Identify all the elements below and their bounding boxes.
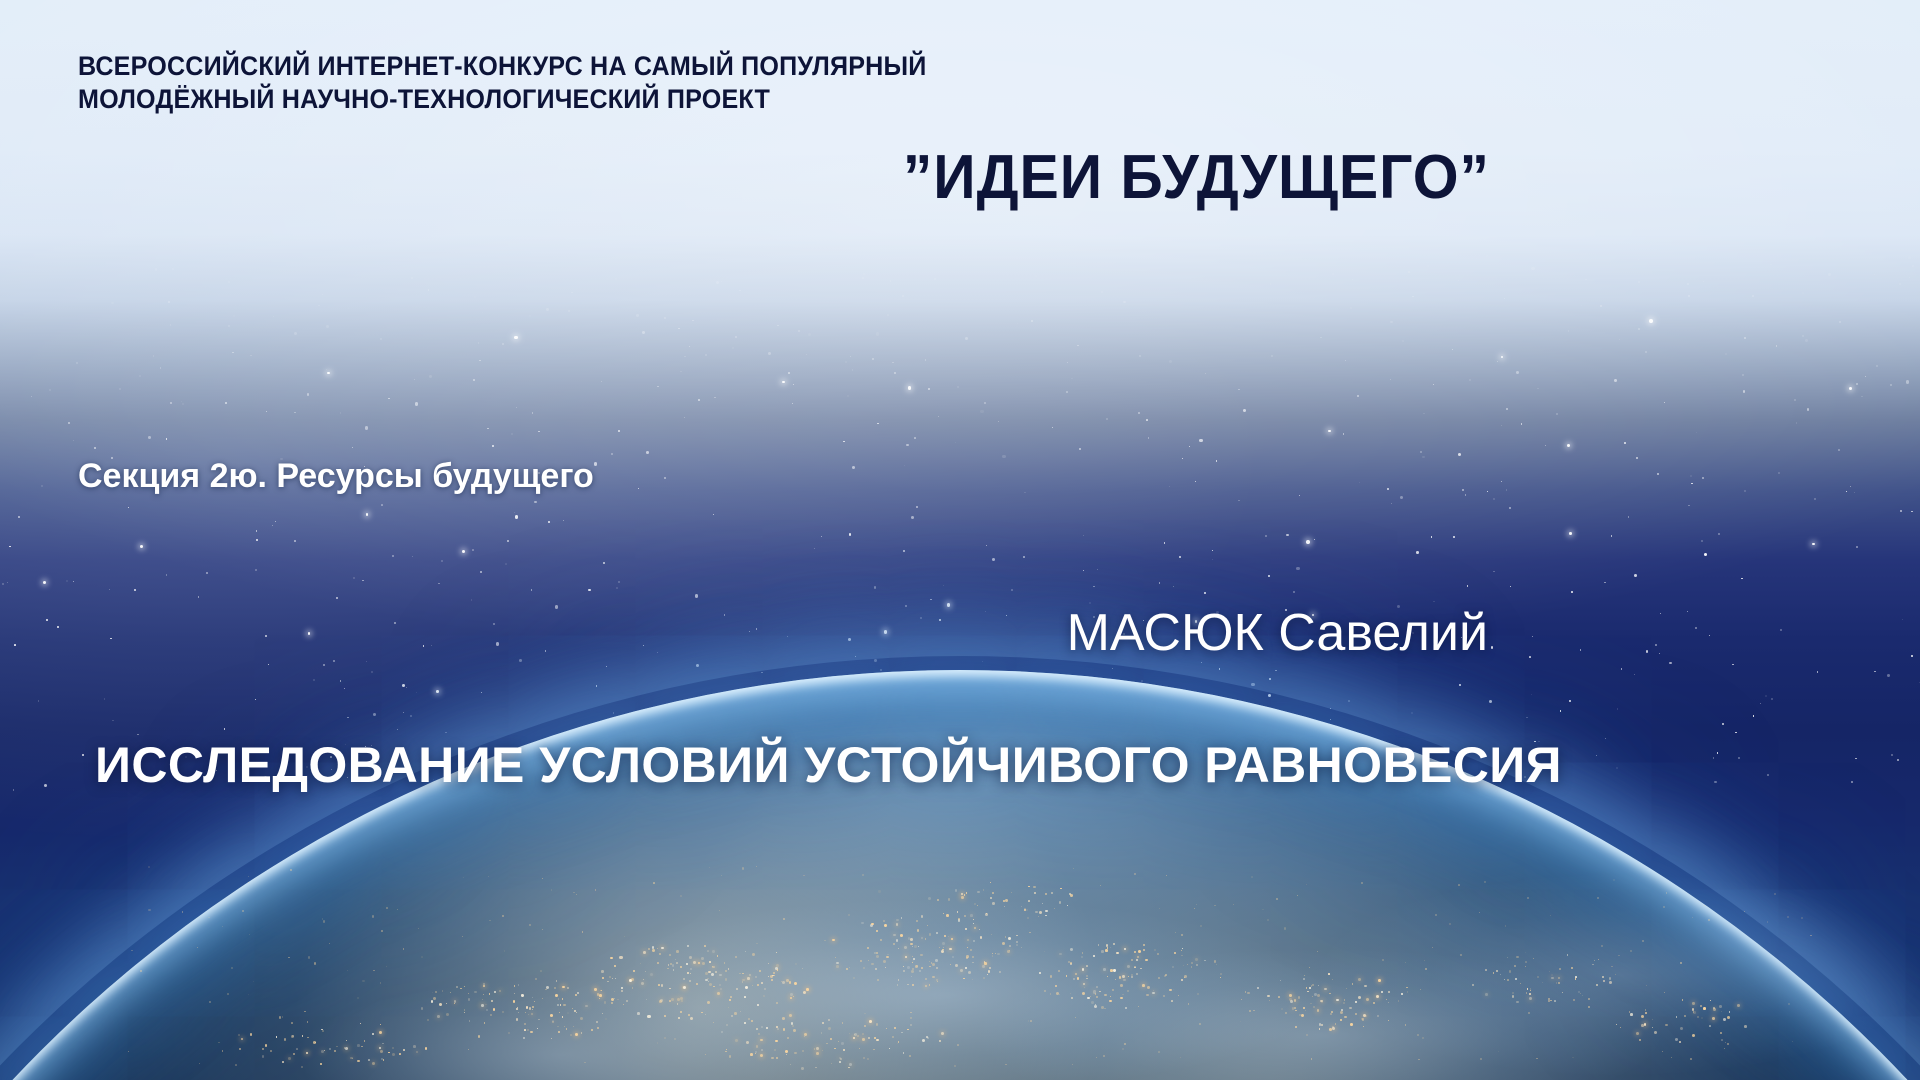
competition-title: ”ИДЕИ БУДУЩЕГО” (903, 143, 1490, 213)
city-lights (0, 650, 1920, 1080)
author-name: МАСЮК Савелий (1067, 603, 1488, 663)
presentation-slide: ВСЕРОССИЙСКИЙ ИНТЕРНЕТ-КОНКУРС НА САМЫЙ … (0, 0, 1920, 1080)
project-title: ИССЛЕДОВАНИЕ УСЛОВИЙ УСТОЙЧИВОГО РАВНОВЕ… (95, 735, 1885, 795)
competition-header: ВСЕРОССИЙСКИЙ ИНТЕРНЕТ-КОНКУРС НА САМЫЙ … (78, 50, 1194, 116)
section-label: Секция 2ю. Ресурсы будущего (78, 455, 594, 497)
earth-image (0, 520, 1920, 1080)
